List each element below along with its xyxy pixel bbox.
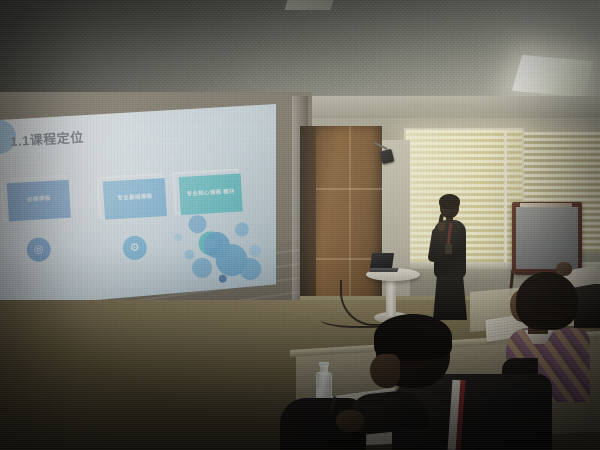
attendee-writing-face: [370, 354, 400, 388]
slide-title: 1.1课程定位: [10, 127, 85, 150]
presenter-skirt: [433, 274, 467, 320]
slide-card-label: 专业核心课程 模块: [179, 174, 243, 216]
wall-soffit: [300, 96, 600, 118]
slide-card-label: 专业基础课程: [103, 178, 167, 220]
ceiling-light-panel-far: [284, 0, 333, 10]
gear-icon: ⚙: [122, 235, 147, 260]
presenter-badge: [445, 244, 452, 254]
attendee-writing-hand: [336, 410, 364, 432]
slide-bubble: [184, 249, 195, 260]
slide-bubble: [219, 275, 227, 283]
ceiling-light-panel: [512, 55, 594, 97]
classroom-photo: 1.1课程定位 必修课程 ◎ 专业基础课程 ⚙ 专业核心课程 模块 ▦: [0, 0, 600, 450]
slide-bubble: [192, 257, 213, 278]
laptop-keyboard: [369, 268, 398, 272]
presenter-hand: [438, 222, 445, 231]
slide-card-label: 必修课程: [7, 180, 71, 222]
slide-bubble: [234, 222, 249, 237]
slide-bubble: [239, 257, 262, 280]
laptop-screen: [370, 253, 394, 269]
whiteboard-clip: [520, 203, 572, 207]
slide-bubble: [188, 215, 207, 234]
projection-screen: 1.1课程定位 必修课程 ◎ 专业基础课程 ⚙ 专业核心课程 模块 ▦: [0, 104, 276, 309]
presenter-hair: [439, 194, 460, 209]
slide-bubble: [249, 244, 262, 257]
presentation-slide: 1.1课程定位 必修课程 ◎ 专业基础课程 ⚙ 专业核心课程 模块 ▦: [0, 104, 276, 309]
attendee-writing: [352, 318, 552, 450]
lightbulb-icon: ◎: [26, 237, 51, 262]
slide-bubble: [174, 233, 182, 241]
presenter: [428, 196, 472, 320]
